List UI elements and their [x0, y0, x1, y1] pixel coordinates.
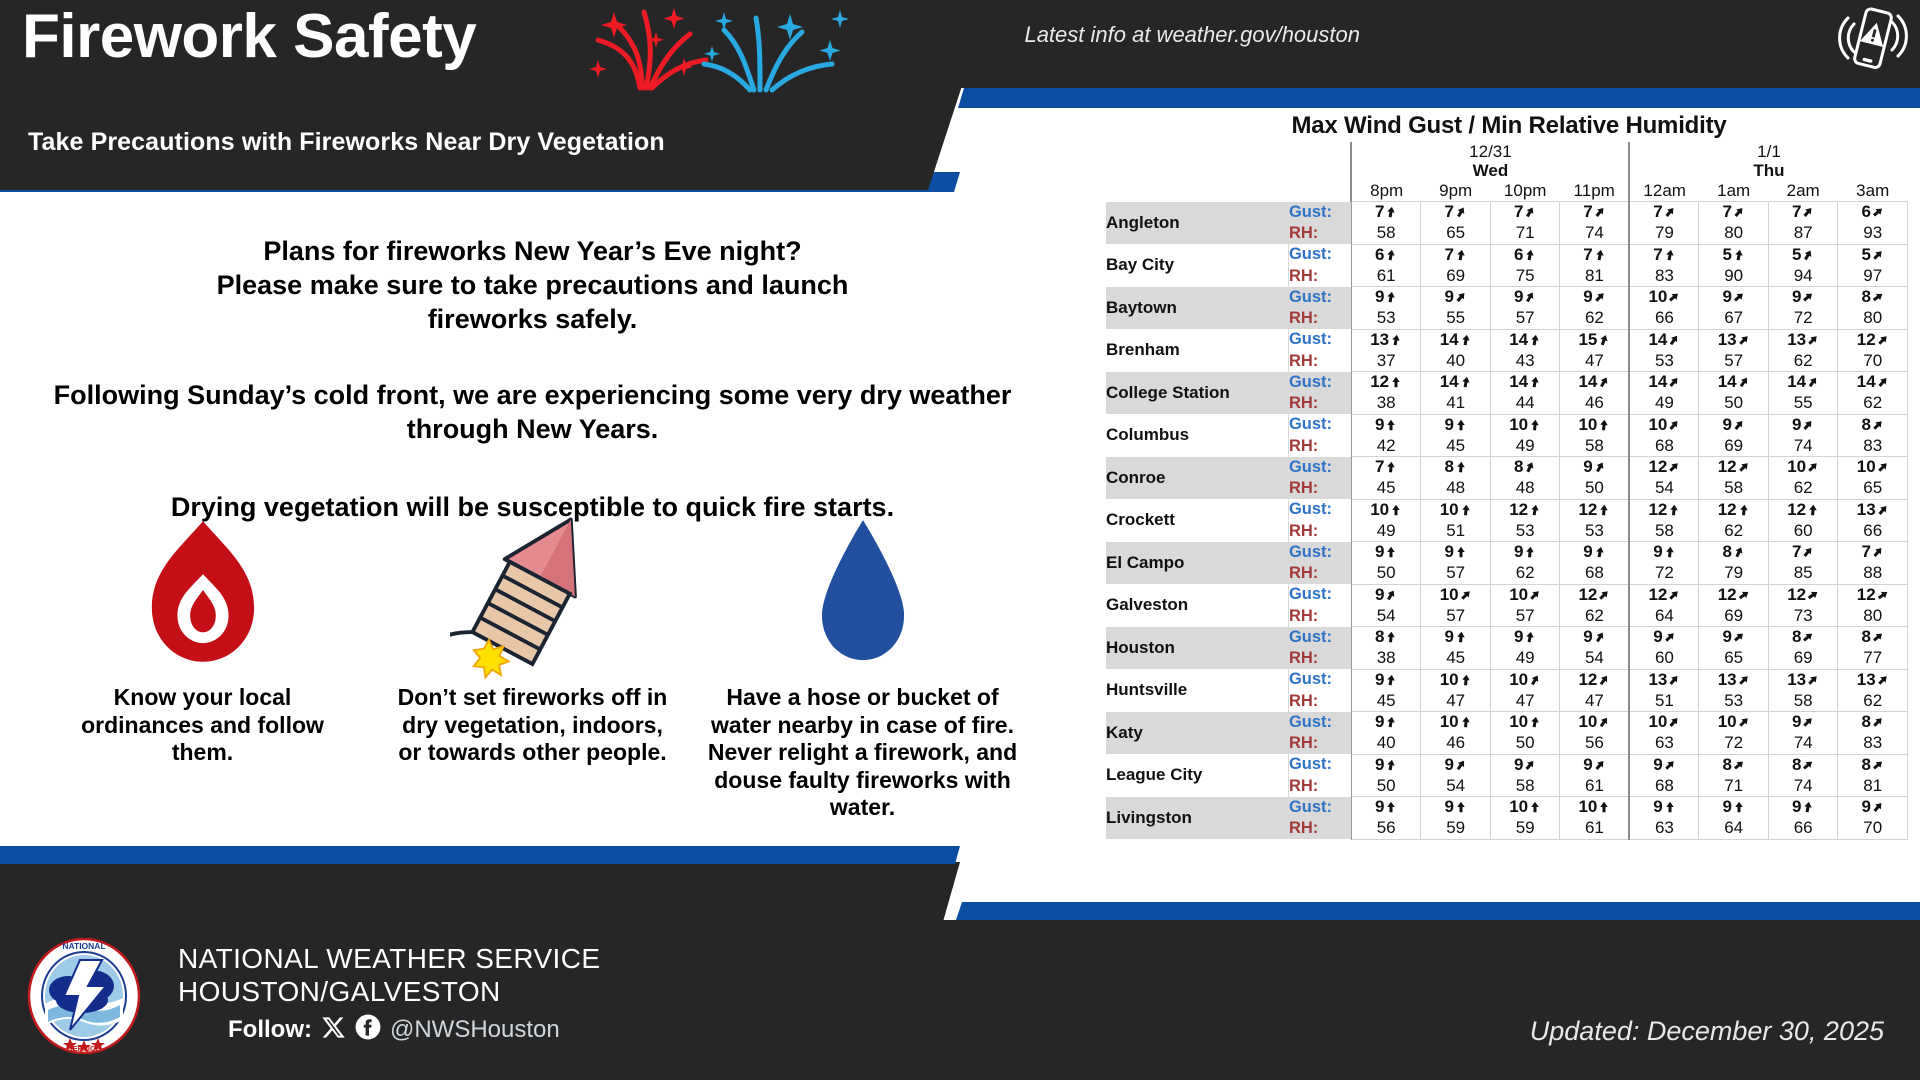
wind-direction-arrow-icon: [1385, 203, 1397, 223]
rh-value-cell: 74: [1768, 733, 1838, 754]
wind-direction-arrow-icon: [1385, 713, 1397, 733]
wind-direction-arrow-icon: [1664, 628, 1676, 648]
rh-value-cell: 49: [1351, 521, 1421, 542]
gust-value-cell: 9: [1421, 542, 1491, 564]
wind-direction-arrow-icon: [1802, 416, 1814, 436]
gust-value-cell: 9: [1421, 287, 1491, 309]
rh-value-cell: 55: [1768, 393, 1838, 414]
gust-value-cell: 13: [1768, 329, 1838, 351]
wind-direction-arrow-icon: [1594, 246, 1606, 266]
wind-direction-arrow-icon: [1872, 756, 1884, 776]
city-name-cell: College Station: [1106, 372, 1288, 415]
gust-value-cell: 7: [1351, 202, 1421, 224]
rh-value-cell: 58: [1351, 223, 1421, 244]
rh-value-cell: 64: [1699, 818, 1769, 839]
wind-direction-arrow-icon: [1872, 246, 1884, 266]
gust-value-cell: 7: [1421, 244, 1491, 266]
table-row: BaytownGust:999910998: [1106, 287, 1908, 309]
gust-value-cell: 7: [1768, 542, 1838, 564]
rh-value-cell: 62: [1768, 351, 1838, 372]
rh-value-cell: 80: [1838, 308, 1908, 329]
gust-value-cell: 6: [1351, 244, 1421, 266]
city-name-cell: El Campo: [1106, 542, 1288, 585]
rh-value-cell: 49: [1490, 436, 1560, 457]
table-row: HuntsvilleGust:910101213131313: [1106, 669, 1908, 691]
gust-value-cell: 14: [1560, 372, 1630, 394]
gust-value-cell: 12: [1560, 499, 1630, 521]
rh-row-label: RH:: [1288, 606, 1351, 627]
city-name-cell: Columbus: [1106, 414, 1288, 457]
social-follow: Follow: @NWSHouston: [228, 1014, 560, 1045]
wind-direction-arrow-icon: [1385, 628, 1397, 648]
wind-direction-arrow-icon: [1594, 458, 1606, 478]
wind-direction-arrow-icon: [1385, 416, 1397, 436]
wind-direction-arrow-icon: [1807, 331, 1819, 351]
day-group-header-0: 12/31 Wed: [1351, 142, 1629, 181]
safety-tip-caption: Know your local ordinances and follow th…: [38, 684, 368, 767]
gust-value-cell: 9: [1699, 627, 1769, 649]
wind-direction-arrow-icon: [1385, 543, 1397, 563]
gust-value-cell: 9: [1838, 797, 1908, 819]
wind-direction-arrow-icon: [1877, 373, 1889, 393]
rh-value-cell: 58: [1490, 776, 1560, 797]
rh-value-cell: 40: [1351, 733, 1421, 754]
rh-value-cell: 83: [1838, 436, 1908, 457]
gust-value-cell: 10: [1490, 712, 1560, 734]
rh-value-cell: 74: [1768, 776, 1838, 797]
wind-direction-arrow-icon: [1598, 331, 1610, 351]
intro-paragraph: Plans for fireworks New Year’s Eve night…: [0, 234, 1065, 336]
hour-header-8pm: 8pm: [1351, 181, 1421, 202]
rh-value-cell: 62: [1838, 691, 1908, 712]
wind-direction-arrow-icon: [1385, 798, 1397, 818]
gust-value-cell: 9: [1699, 414, 1769, 436]
rh-value-cell: 45: [1421, 436, 1491, 457]
wind-direction-arrow-icon: [1529, 798, 1541, 818]
wind-direction-arrow-icon: [1738, 331, 1750, 351]
gust-value-cell: 10: [1838, 457, 1908, 479]
safety-tip-ordinances: Know your local ordinances and follow th…: [38, 506, 368, 767]
table-row: El CampoGust:99999877: [1106, 542, 1908, 564]
city-name-cell: Crockett: [1106, 499, 1288, 542]
wind-direction-arrow-icon: [1455, 416, 1467, 436]
gust-value-cell: 9: [1560, 542, 1630, 564]
wind-direction-arrow-icon: [1872, 203, 1884, 223]
rh-row-label: RH:: [1288, 818, 1351, 839]
rh-value-cell: 37: [1351, 351, 1421, 372]
wind-direction-arrow-icon: [1529, 713, 1541, 733]
rh-value-cell: 53: [1560, 521, 1630, 542]
rh-row-label: RH:: [1288, 393, 1351, 414]
wind-direction-arrow-icon: [1877, 671, 1889, 691]
gust-value-cell: 10: [1490, 584, 1560, 606]
rh-value-cell: 81: [1838, 776, 1908, 797]
rh-value-cell: 69: [1768, 648, 1838, 669]
social-handle[interactable]: @NWSHouston: [390, 1016, 560, 1044]
gust-row-label: Gust:: [1288, 329, 1351, 351]
table-row: LivingstonGust:9910109999: [1106, 797, 1908, 819]
wind-direction-arrow-icon: [1598, 501, 1610, 521]
wind-direction-arrow-icon: [1733, 756, 1745, 776]
gust-value-cell: 10: [1421, 712, 1491, 734]
rh-value-cell: 69: [1699, 606, 1769, 627]
wind-direction-arrow-icon: [1594, 628, 1606, 648]
wind-direction-arrow-icon: [1738, 586, 1750, 606]
rh-value-cell: 47: [1490, 691, 1560, 712]
wind-direction-arrow-icon: [1598, 586, 1610, 606]
gust-value-cell: 12: [1699, 584, 1769, 606]
rh-value-cell: 80: [1838, 606, 1908, 627]
wind-direction-arrow-icon: [1738, 713, 1750, 733]
gust-row-label: Gust:: [1288, 712, 1351, 734]
x-twitter-icon[interactable]: [321, 1015, 346, 1045]
title-block: Firework Safety Take Precautions with Fi…: [0, 0, 990, 190]
wind-direction-arrow-icon: [1455, 628, 1467, 648]
wind-direction-arrow-icon: [1733, 288, 1745, 308]
wind-direction-arrow-icon: [1668, 331, 1680, 351]
gust-value-cell: 10: [1490, 797, 1560, 819]
gust-value-cell: 9: [1768, 712, 1838, 734]
rh-value-cell: 38: [1351, 648, 1421, 669]
gust-value-cell: 8: [1351, 627, 1421, 649]
rh-value-cell: 43: [1490, 351, 1560, 372]
rh-value-cell: 70: [1838, 351, 1908, 372]
gust-value-cell: 9: [1351, 797, 1421, 819]
gust-value-cell: 7: [1351, 457, 1421, 479]
gust-row-label: Gust:: [1288, 627, 1351, 649]
hour-header-1am: 1am: [1699, 181, 1769, 202]
water-droplet-icon: [807, 506, 919, 676]
gust-value-cell: 14: [1699, 372, 1769, 394]
gust-value-cell: 12: [1629, 584, 1699, 606]
wind-direction-arrow-icon: [1733, 628, 1745, 648]
city-name-cell: League City: [1106, 754, 1288, 797]
wind-direction-arrow-icon: [1664, 543, 1676, 563]
gust-value-cell: 12: [1699, 457, 1769, 479]
gust-value-cell: 9: [1629, 797, 1699, 819]
wind-direction-arrow-icon: [1460, 373, 1472, 393]
rh-value-cell: 50: [1351, 776, 1421, 797]
rh-value-cell: 47: [1560, 691, 1630, 712]
wind-direction-arrow-icon: [1668, 458, 1680, 478]
rh-value-cell: 58: [1560, 436, 1630, 457]
rh-value-cell: 50: [1490, 733, 1560, 754]
facebook-icon[interactable]: [355, 1014, 381, 1045]
rh-value-cell: 66: [1768, 818, 1838, 839]
wind-direction-arrow-icon: [1460, 586, 1472, 606]
table-row: CrockettGust:1010121212121213: [1106, 499, 1908, 521]
gust-value-cell: 9: [1421, 414, 1491, 436]
rh-value-cell: 62: [1699, 521, 1769, 542]
rh-value-cell: 49: [1629, 393, 1699, 414]
gust-value-cell: 8: [1838, 627, 1908, 649]
flame-icon: [144, 506, 262, 676]
gust-value-cell: 10: [1560, 414, 1630, 436]
gust-value-cell: 5: [1768, 244, 1838, 266]
wind-direction-arrow-icon: [1802, 628, 1814, 648]
rh-value-cell: 57: [1421, 606, 1491, 627]
wind-direction-arrow-icon: [1807, 501, 1819, 521]
gust-value-cell: 8: [1699, 754, 1769, 776]
city-name-cell: Angleton: [1106, 202, 1288, 245]
wind-direction-arrow-icon: [1460, 671, 1472, 691]
rh-value-cell: 85: [1768, 563, 1838, 584]
rh-value-cell: 69: [1699, 436, 1769, 457]
rh-row-label: RH:: [1288, 691, 1351, 712]
wind-direction-arrow-icon: [1455, 288, 1467, 308]
gust-value-cell: 12: [1351, 372, 1421, 394]
hour-header-2am: 2am: [1768, 181, 1838, 202]
gust-value-cell: 13: [1351, 329, 1421, 351]
rh-value-cell: 93: [1838, 223, 1908, 244]
rh-value-cell: 56: [1560, 733, 1630, 754]
page-subtitle: Take Precautions with Fireworks Near Dry…: [28, 128, 665, 157]
svg-text:NATIONAL: NATIONAL: [62, 941, 105, 951]
gust-value-cell: 15: [1560, 329, 1630, 351]
safety-tip-caption: Have a hose or bucket of water nearby in…: [698, 684, 1028, 822]
gust-value-cell: 9: [1768, 287, 1838, 309]
follow-label: Follow:: [228, 1016, 312, 1044]
gust-value-cell: 9: [1351, 287, 1421, 309]
gust-value-cell: 8: [1838, 287, 1908, 309]
wind-direction-arrow-icon: [1668, 288, 1680, 308]
gust-value-cell: 13: [1838, 669, 1908, 691]
nws-seal-icon: NATIONAL SERVICE: [26, 938, 142, 1054]
rh-value-cell: 61: [1560, 818, 1630, 839]
day-group-header-1: 1/1 Thu: [1629, 142, 1907, 181]
gust-value-cell: 14: [1629, 372, 1699, 394]
table-row: College StationGust:1214141414141414: [1106, 372, 1908, 394]
gust-row-label: Gust:: [1288, 202, 1351, 224]
rh-value-cell: 53: [1629, 351, 1699, 372]
wind-direction-arrow-icon: [1524, 543, 1536, 563]
rh-value-cell: 87: [1768, 223, 1838, 244]
gust-row-label: Gust:: [1288, 499, 1351, 521]
gust-row-label: Gust:: [1288, 754, 1351, 776]
main-content: Plans for fireworks New Year’s Eve night…: [0, 196, 1065, 896]
firework-rocket-icon: [450, 506, 615, 676]
gust-row-label: Gust:: [1288, 457, 1351, 479]
wind-direction-arrow-icon: [1807, 458, 1819, 478]
gust-value-cell: 5: [1699, 244, 1769, 266]
wind-direction-arrow-icon: [1598, 671, 1610, 691]
wind-direction-arrow-icon: [1733, 246, 1745, 266]
rh-value-cell: 66: [1629, 308, 1699, 329]
wind-direction-arrow-icon: [1877, 331, 1889, 351]
cold-front-paragraph: Following Sunday’s cold front, we are ex…: [0, 378, 1065, 446]
rh-value-cell: 41: [1421, 393, 1491, 414]
wind-direction-arrow-icon: [1529, 586, 1541, 606]
rh-value-cell: 48: [1490, 478, 1560, 499]
header-accent-bar-right: [940, 88, 1920, 108]
rh-value-cell: 51: [1629, 691, 1699, 712]
rh-row-label: RH:: [1288, 733, 1351, 754]
wind-direction-arrow-icon: [1668, 671, 1680, 691]
gust-value-cell: 7: [1699, 202, 1769, 224]
table-header: 12/31 Wed 1/1 Thu 8pm9pm10pm11pm12am1am2…: [1106, 142, 1908, 202]
gust-value-cell: 12: [1768, 584, 1838, 606]
rh-value-cell: 46: [1421, 733, 1491, 754]
wind-direction-arrow-icon: [1594, 756, 1606, 776]
rh-value-cell: 83: [1629, 266, 1699, 287]
rh-row-label: RH:: [1288, 478, 1351, 499]
wind-direction-arrow-icon: [1872, 798, 1884, 818]
gust-row-label: Gust:: [1288, 584, 1351, 606]
wind-direction-arrow-icon: [1524, 288, 1536, 308]
city-name-cell: Bay City: [1106, 244, 1288, 287]
gust-value-cell: 7: [1768, 202, 1838, 224]
table-day-header-row: 12/31 Wed 1/1 Thu: [1106, 142, 1908, 181]
rh-value-cell: 51: [1421, 521, 1491, 542]
rh-value-cell: 65: [1421, 223, 1491, 244]
rh-value-cell: 46: [1560, 393, 1630, 414]
rh-value-cell: 56: [1351, 818, 1421, 839]
gust-row-label: Gust:: [1288, 287, 1351, 309]
rh-row-label: RH:: [1288, 776, 1351, 797]
wind-direction-arrow-icon: [1733, 416, 1745, 436]
gust-value-cell: 8: [1838, 712, 1908, 734]
rh-value-cell: 48: [1421, 478, 1491, 499]
rh-row-label: RH:: [1288, 266, 1351, 287]
gust-row-label: Gust:: [1288, 372, 1351, 394]
weather-forecast-table: 12/31 Wed 1/1 Thu 8pm9pm10pm11pm12am1am2…: [1106, 142, 1908, 840]
gust-value-cell: 10: [1768, 457, 1838, 479]
wind-direction-arrow-icon: [1455, 543, 1467, 563]
gust-value-cell: 14: [1421, 372, 1491, 394]
wind-direction-arrow-icon: [1594, 543, 1606, 563]
table-row: KatyGust:9101010101098: [1106, 712, 1908, 734]
wind-direction-arrow-icon: [1802, 246, 1814, 266]
rh-value-cell: 83: [1838, 733, 1908, 754]
gust-value-cell: 9: [1351, 414, 1421, 436]
gust-value-cell: 9: [1699, 797, 1769, 819]
rh-value-cell: 94: [1768, 266, 1838, 287]
wind-direction-arrow-icon: [1455, 246, 1467, 266]
gust-value-cell: 7: [1629, 202, 1699, 224]
city-name-cell: Katy: [1106, 712, 1288, 755]
rh-row-label: RH:: [1288, 351, 1351, 372]
gust-value-cell: 9: [1768, 414, 1838, 436]
wind-direction-arrow-icon: [1460, 331, 1472, 351]
wind-direction-arrow-icon: [1664, 203, 1676, 223]
gust-value-cell: 10: [1629, 712, 1699, 734]
hour-header-3am: 3am: [1838, 181, 1908, 202]
wind-direction-arrow-icon: [1594, 288, 1606, 308]
wind-direction-arrow-icon: [1455, 458, 1467, 478]
wind-direction-arrow-icon: [1802, 798, 1814, 818]
wind-direction-arrow-icon: [1668, 586, 1680, 606]
gust-value-cell: 6: [1838, 202, 1908, 224]
wind-direction-arrow-icon: [1594, 203, 1606, 223]
wind-direction-arrow-icon: [1385, 288, 1397, 308]
gust-value-cell: 9: [1629, 627, 1699, 649]
gust-value-cell: 10: [1560, 712, 1630, 734]
wind-direction-arrow-icon: [1872, 713, 1884, 733]
gust-value-cell: 9: [1490, 754, 1560, 776]
hour-header-10pm: 10pm: [1490, 181, 1560, 202]
wind-direction-arrow-icon: [1390, 373, 1402, 393]
rh-value-cell: 62: [1838, 393, 1908, 414]
rh-value-cell: 88: [1838, 563, 1908, 584]
city-name-cell: Houston: [1106, 627, 1288, 670]
gust-value-cell: 7: [1560, 244, 1630, 266]
gust-value-cell: 8: [1699, 542, 1769, 564]
city-name-cell: Baytown: [1106, 287, 1288, 330]
gust-value-cell: 10: [1421, 669, 1491, 691]
gust-value-cell: 9: [1768, 797, 1838, 819]
gust-value-cell: 9: [1351, 584, 1421, 606]
organization-name: NATIONAL WEATHER SERVICE HOUSTON/GALVEST…: [178, 942, 600, 1008]
weather-forecast-table-panel: Max Wind Gust / Min Relative Humidity 12…: [1098, 108, 1920, 998]
svg-text:SERVICE: SERVICE: [68, 1044, 101, 1053]
gust-value-cell: 13: [1699, 329, 1769, 351]
wind-direction-arrow-icon: [1598, 798, 1610, 818]
wind-direction-arrow-icon: [1733, 543, 1745, 563]
wind-direction-arrow-icon: [1524, 458, 1536, 478]
wind-direction-arrow-icon: [1802, 713, 1814, 733]
gust-value-cell: 9: [1560, 754, 1630, 776]
rh-value-cell: 97: [1838, 266, 1908, 287]
rh-value-cell: 50: [1351, 563, 1421, 584]
intro-line-2: Please make sure to take precautions and…: [217, 270, 849, 334]
rh-value-cell: 63: [1629, 733, 1699, 754]
wind-direction-arrow-icon: [1385, 586, 1397, 606]
wind-direction-arrow-icon: [1802, 543, 1814, 563]
wind-direction-arrow-icon: [1524, 203, 1536, 223]
rh-value-cell: 50: [1560, 478, 1630, 499]
rh-value-cell: 73: [1768, 606, 1838, 627]
rh-row-label: RH:: [1288, 308, 1351, 329]
gust-value-cell: 8: [1768, 627, 1838, 649]
gust-value-cell: 8: [1838, 754, 1908, 776]
wind-direction-arrow-icon: [1664, 246, 1676, 266]
gust-value-cell: 9: [1629, 754, 1699, 776]
wind-direction-arrow-icon: [1529, 373, 1541, 393]
wind-direction-arrow-icon: [1738, 501, 1750, 521]
table-row: ColumbusGust:99101010998: [1106, 414, 1908, 436]
gust-row-label: Gust:: [1288, 669, 1351, 691]
table-title: Max Wind Gust / Min Relative Humidity: [1098, 108, 1920, 140]
gust-value-cell: 12: [1560, 584, 1630, 606]
rh-value-cell: 68: [1629, 436, 1699, 457]
table-row: AngletonGust:77777776: [1106, 202, 1908, 224]
gust-value-cell: 10: [1490, 669, 1560, 691]
wind-direction-arrow-icon: [1738, 671, 1750, 691]
table-hour-header-row: 8pm9pm10pm11pm12am1am2am3am: [1106, 181, 1908, 202]
wind-direction-arrow-icon: [1385, 246, 1397, 266]
wind-direction-arrow-icon: [1664, 798, 1676, 818]
gust-value-cell: 7: [1490, 202, 1560, 224]
gust-value-cell: 9: [1351, 712, 1421, 734]
wind-direction-arrow-icon: [1529, 501, 1541, 521]
rh-value-cell: 72: [1629, 563, 1699, 584]
gust-value-cell: 13: [1838, 499, 1908, 521]
gust-value-cell: 12: [1838, 584, 1908, 606]
wind-direction-arrow-icon: [1872, 628, 1884, 648]
safety-tips-row: Know your local ordinances and follow th…: [0, 506, 1065, 822]
rh-value-cell: 68: [1629, 776, 1699, 797]
wind-direction-arrow-icon: [1529, 416, 1541, 436]
gust-value-cell: 12: [1629, 457, 1699, 479]
rh-value-cell: 79: [1699, 563, 1769, 584]
wind-direction-arrow-icon: [1733, 203, 1745, 223]
wind-direction-arrow-icon: [1390, 501, 1402, 521]
rh-value-cell: 59: [1421, 818, 1491, 839]
rh-value-cell: 80: [1699, 223, 1769, 244]
rh-value-cell: 50: [1699, 393, 1769, 414]
gust-value-cell: 14: [1490, 372, 1560, 394]
wind-direction-arrow-icon: [1529, 671, 1541, 691]
